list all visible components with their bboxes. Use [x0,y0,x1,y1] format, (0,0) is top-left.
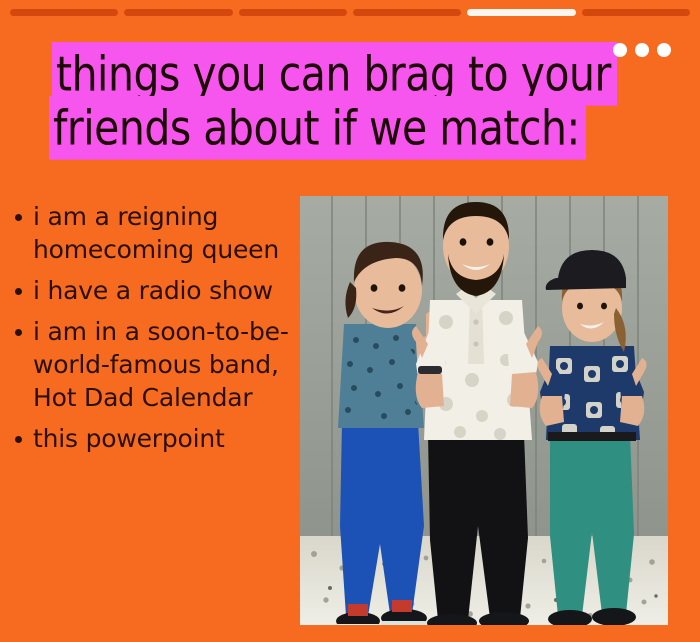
group-photo-illustration [300,196,668,625]
story-progress-segment-5-active[interactable] [467,9,575,16]
more-options-dots-icon[interactable] [613,43,671,57]
group-photo [300,196,668,625]
list-item: this powerpoint [12,422,298,455]
instagram-story-screen[interactable]: things you can brag to your friends abou… [0,0,700,642]
title-line-2: friends about if we match: [49,96,586,160]
title-line-2-row: friends about if we match: [49,96,664,150]
page-title: things you can brag to your friends abou… [52,42,664,150]
story-progress-segment-2[interactable] [124,9,232,16]
list-item: i am in a soon-to-be-world-famous band, … [12,315,298,414]
story-progress-segment-1[interactable] [10,9,118,16]
story-progress-segment-6[interactable] [582,9,690,16]
list-item: i have a radio show [12,274,298,307]
story-progress-segment-4[interactable] [353,9,461,16]
dot-1 [613,43,627,57]
dot-3 [657,43,671,57]
story-progress-segment-3[interactable] [239,9,347,16]
list-item: i am a reigning homecoming queen [12,200,298,266]
dot-2 [635,43,649,57]
story-progress-bar [10,9,690,16]
title-line-1-row: things you can brag to your [52,42,664,96]
brag-list: i am a reigning homecoming queen i have … [12,200,298,463]
